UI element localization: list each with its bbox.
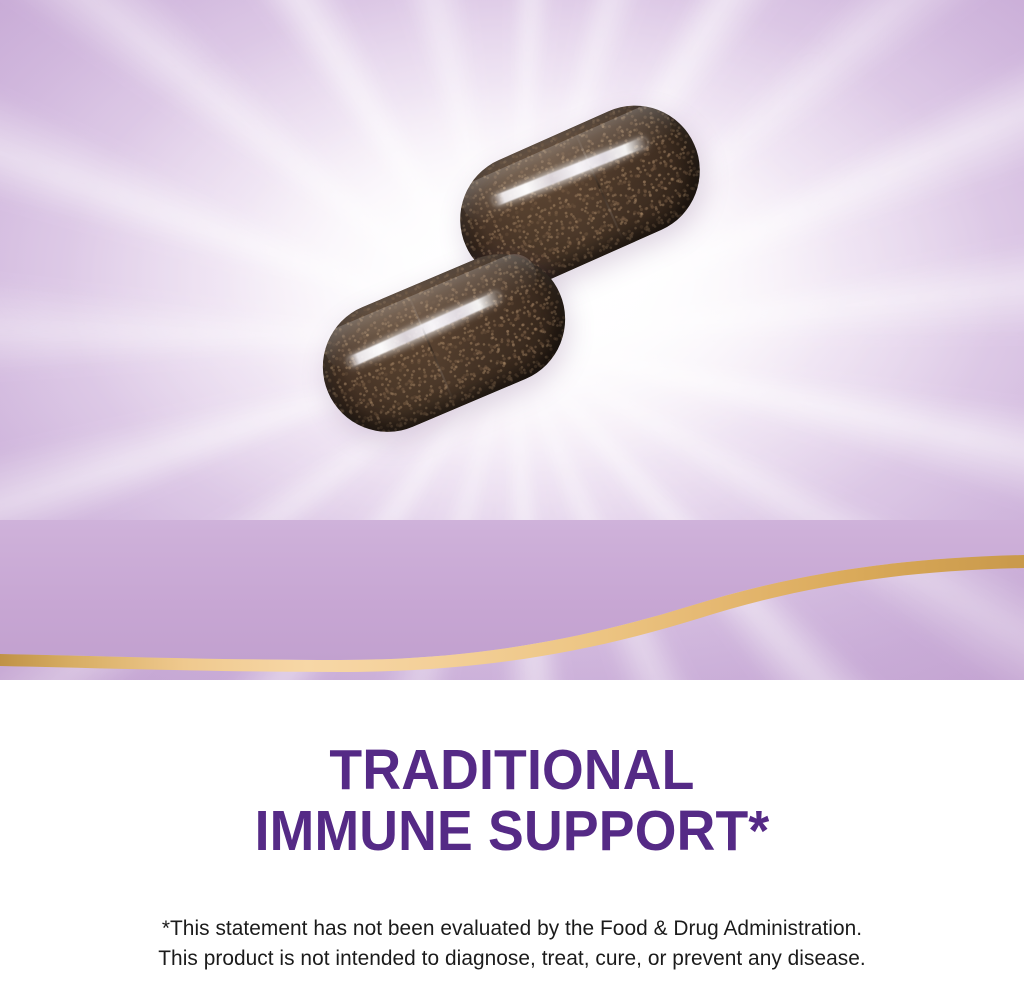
- headline-line-2: IMMUNE SUPPORT*: [31, 801, 994, 862]
- headline-line-1: TRADITIONAL: [31, 740, 994, 801]
- headline: TRADITIONAL IMMUNE SUPPORT*: [31, 740, 994, 862]
- hero-burst-background: [0, 0, 1024, 680]
- bottom-text-area: TRADITIONAL IMMUNE SUPPORT* *This statem…: [0, 680, 1024, 991]
- fda-disclaimer-line-1: *This statement has not been evaluated b…: [15, 913, 1008, 943]
- fda-disclaimer-line-2: This product is not intended to diagnose…: [15, 943, 1008, 973]
- fda-disclaimer: *This statement has not been evaluated b…: [15, 913, 1008, 973]
- product-image-panel: TRADITIONAL IMMUNE SUPPORT* *This statem…: [0, 0, 1024, 991]
